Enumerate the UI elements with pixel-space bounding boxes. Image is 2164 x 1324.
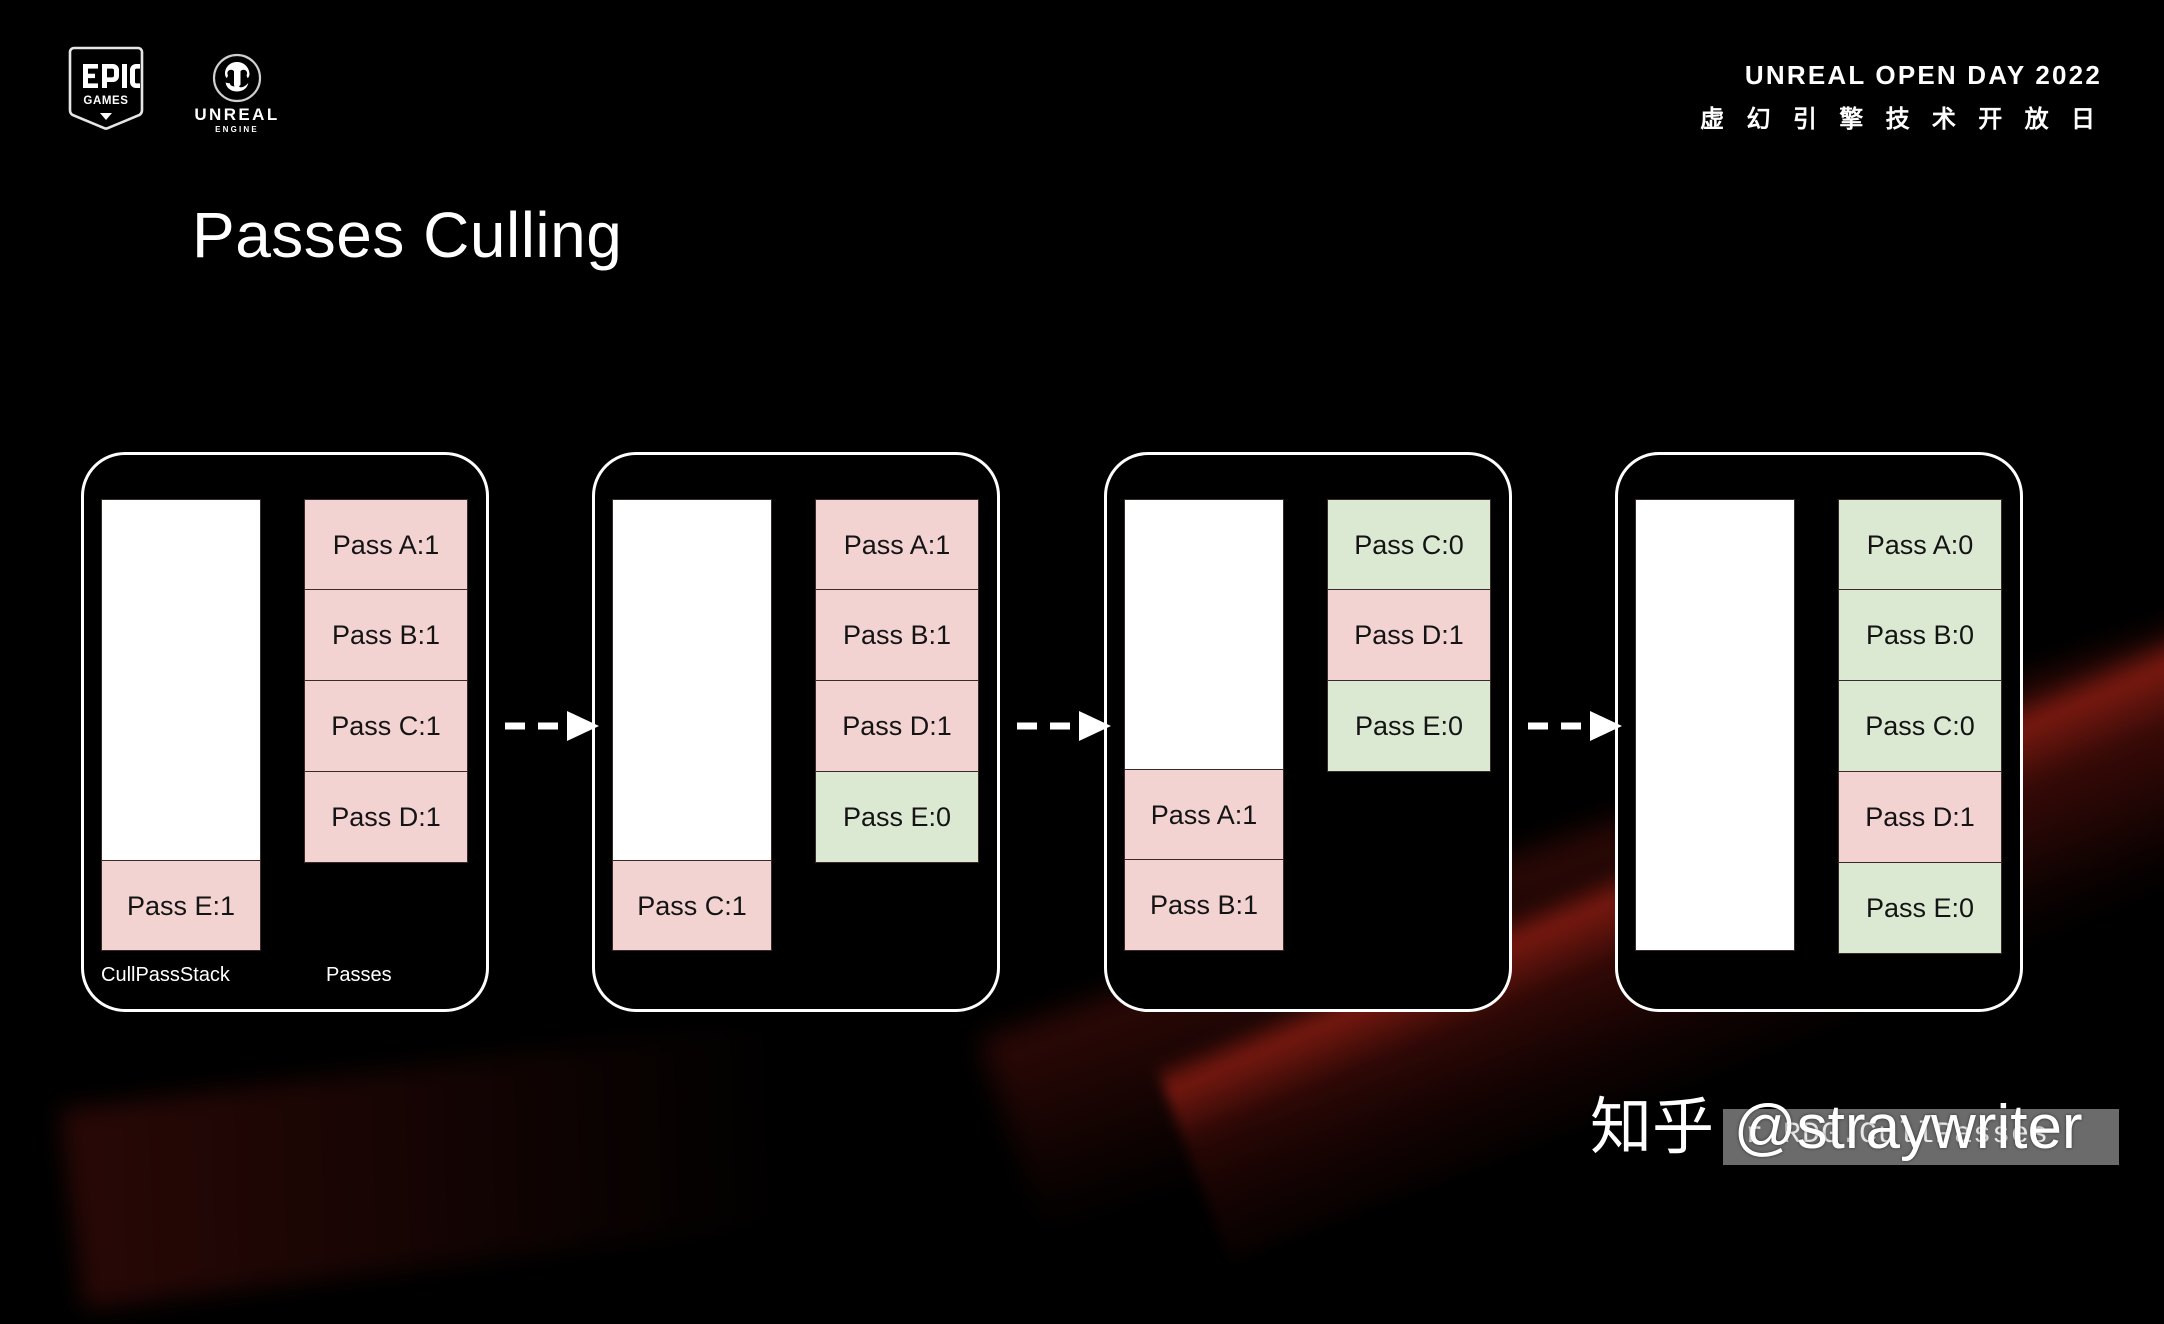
passes-cell: Pass B:1 xyxy=(815,590,979,681)
passes-cell: Pass E:0 xyxy=(1838,863,2002,954)
passes-cell: Pass A:0 xyxy=(1838,499,2002,590)
passes-cell: Pass C:1 xyxy=(304,681,468,772)
flow-arrow-arrow-3-4 xyxy=(1528,709,1624,743)
diagram-panel-step-2: Pass C:1Pass A:1Pass B:1Pass D:1Pass E:0 xyxy=(592,452,1000,1012)
passes-cell: Pass A:1 xyxy=(304,499,468,590)
diagram-panel-step-4: Pass A:0Pass B:0Pass C:0Pass D:1Pass E:0 xyxy=(1615,452,2023,1012)
passes-culling-diagram: Pass E:1Pass A:1Pass B:1Pass C:1Pass D:1… xyxy=(0,0,2164,1216)
stack-empty-space xyxy=(1635,499,1795,951)
stack-cell: Pass E:1 xyxy=(101,860,261,951)
passes-cell: Pass E:0 xyxy=(1327,681,1491,772)
stack-empty-space xyxy=(1124,499,1284,769)
passes-column: Pass A:1Pass B:1Pass D:1Pass E:0 xyxy=(815,499,979,863)
watermark-site: 知乎 xyxy=(1590,1090,1714,1163)
passes-cell: Pass E:0 xyxy=(815,772,979,863)
passes-column: Pass C:0Pass D:1Pass E:0 xyxy=(1327,499,1491,772)
flow-arrow-arrow-1-2 xyxy=(505,709,601,743)
stack-empty-space xyxy=(101,499,261,860)
cullpassstack-column xyxy=(1635,499,1795,951)
passes-label: Passes xyxy=(326,964,392,987)
passes-cell: Pass D:1 xyxy=(1327,590,1491,681)
stack-cell: Pass A:1 xyxy=(1124,769,1284,860)
cullpassstack-column: Pass E:1 xyxy=(101,499,261,951)
stack-cell: Pass B:1 xyxy=(1124,860,1284,951)
passes-cell: Pass D:1 xyxy=(1838,772,2002,863)
passes-cell: Pass B:0 xyxy=(1838,590,2002,681)
passes-column: Pass A:0Pass B:0Pass C:0Pass D:1Pass E:0 xyxy=(1838,499,2002,954)
flow-arrow-arrow-2-3 xyxy=(1017,709,1113,743)
stack-empty-space xyxy=(612,499,772,860)
passes-cell: Pass C:0 xyxy=(1327,499,1491,590)
watermark-handle: @straywriter xyxy=(1734,1093,2083,1162)
stack-cell: Pass C:1 xyxy=(612,860,772,951)
passes-cell: Pass D:1 xyxy=(304,772,468,863)
diagram-panel-step-1: Pass E:1Pass A:1Pass B:1Pass C:1Pass D:1… xyxy=(81,452,489,1012)
diagram-panel-step-3: Pass A:1Pass B:1Pass C:0Pass D:1Pass E:0 xyxy=(1104,452,1512,1012)
passes-column: Pass A:1Pass B:1Pass C:1Pass D:1 xyxy=(304,499,468,863)
passes-cell: Pass A:1 xyxy=(815,499,979,590)
cullpassstack-column: Pass A:1Pass B:1 xyxy=(1124,499,1284,951)
watermark: 知乎 @straywriter xyxy=(1590,1076,2083,1166)
cullpassstack-column: Pass C:1 xyxy=(612,499,772,951)
passes-cell: Pass C:0 xyxy=(1838,681,2002,772)
passes-cell: Pass D:1 xyxy=(815,681,979,772)
passes-cell: Pass B:1 xyxy=(304,590,468,681)
cullpassstack-label: CullPassStack xyxy=(101,964,230,987)
